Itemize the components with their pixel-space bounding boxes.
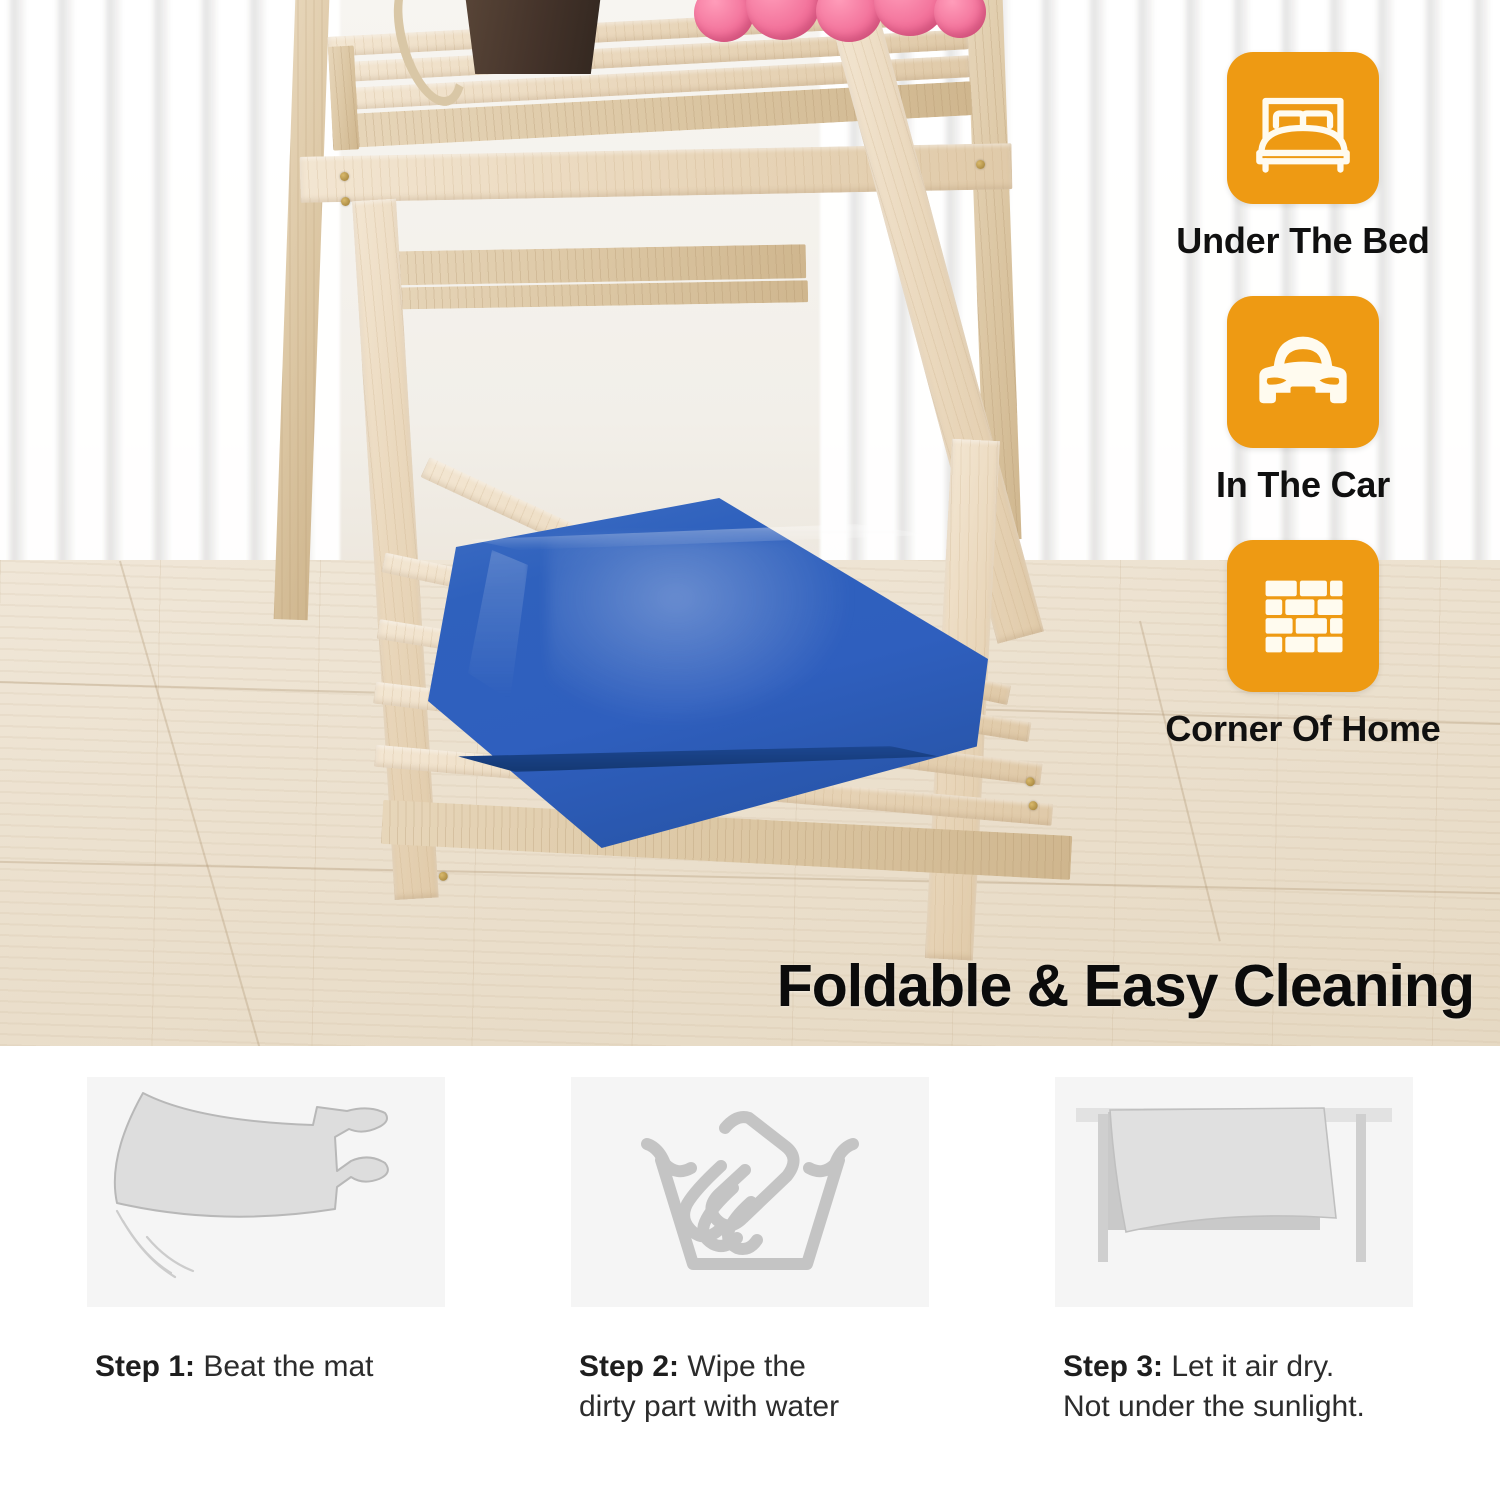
shelf-crossbar-middle xyxy=(376,244,807,285)
feature-under-the-bed: Under The Bed xyxy=(1176,52,1429,262)
step-1-caption: Step 1: Beat the mat xyxy=(87,1347,445,1387)
step-3-figure xyxy=(1055,1077,1413,1307)
step-2-number: Step 2: xyxy=(579,1350,679,1383)
shelf-screw xyxy=(341,197,350,206)
step-2-text: Wipe the xyxy=(679,1350,806,1383)
wooden-ladder-shelf xyxy=(0,0,1100,1046)
bed-icon xyxy=(1227,52,1379,204)
step-1-text: Beat the mat xyxy=(195,1350,373,1383)
feature-in-the-car: In The Car xyxy=(1216,296,1390,506)
shelf-crossbar-middle-2 xyxy=(378,280,808,310)
step-3-text: Let it air dry. xyxy=(1163,1350,1334,1383)
feature-label: Corner Of Home xyxy=(1165,708,1440,750)
car-icon xyxy=(1227,296,1379,448)
step-1-number: Step 1: xyxy=(95,1350,195,1383)
step-1-figure xyxy=(87,1077,445,1307)
product-photo-section: Under The Bed In The Car xyxy=(0,0,1500,1046)
cleaning-steps-section: Step 1: Beat the mat xyxy=(0,1046,1500,1500)
feature-label: Under The Bed xyxy=(1176,220,1429,262)
step-3-number: Step 3: xyxy=(1063,1350,1163,1383)
step-item: Step 2: Wipe the dirty part with water xyxy=(571,1077,929,1427)
feature-label: In The Car xyxy=(1216,464,1390,506)
step-item: Step 1: Beat the mat xyxy=(87,1077,445,1427)
mat-sheen xyxy=(548,538,868,738)
shaking-mat-icon xyxy=(101,1087,431,1297)
page-headline: Foldable & Easy Cleaning xyxy=(777,952,1474,1020)
step-item: Step 3: Let it air dry. Not under the su… xyxy=(1055,1077,1413,1427)
pink-yarn-balls xyxy=(690,0,980,42)
feature-list: Under The Bed In The Car xyxy=(1138,52,1468,750)
blue-folded-mat xyxy=(428,498,988,848)
shelf-leg-back-left xyxy=(274,0,330,620)
brick-wall-icon xyxy=(1227,540,1379,692)
step-2-text-line2: dirty part with water xyxy=(579,1390,839,1423)
feature-corner-of-home: Corner Of Home xyxy=(1165,540,1440,750)
steps-row: Step 1: Beat the mat xyxy=(0,1077,1500,1427)
shelf-screw xyxy=(340,172,349,181)
step-3-caption: Step 3: Let it air dry. Not under the su… xyxy=(1055,1347,1413,1427)
step-2-figure xyxy=(571,1077,929,1307)
shelf-screw xyxy=(976,160,985,169)
hanging-mat-dry-icon xyxy=(1074,1092,1394,1292)
step-2-caption: Step 2: Wipe the dirty part with water xyxy=(571,1347,929,1427)
hand-wash-basin-icon xyxy=(625,1092,875,1292)
step-3-text-line2: Not under the sunlight. xyxy=(1063,1390,1365,1423)
